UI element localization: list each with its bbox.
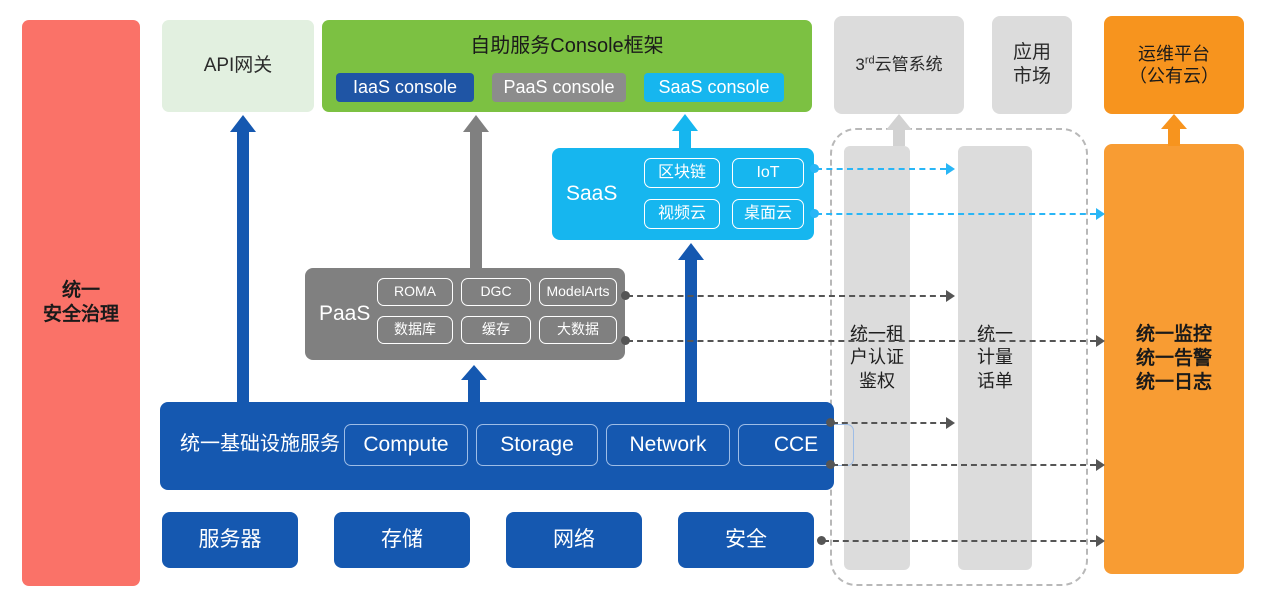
arrow-infra-to-paas	[461, 365, 487, 405]
arrowhead-saas-to-auth	[946, 163, 955, 175]
auth-line3: 鉴权	[850, 370, 904, 393]
paas-service-bigdata[interactable]: 大数据	[539, 316, 617, 344]
architecture-diagram: 统一 安全治理 API网关 自助服务Console框架 IaaS console…	[0, 0, 1265, 605]
infra-service-storage[interactable]: Storage	[476, 424, 598, 466]
ops-top-line2: （公有云）	[1129, 65, 1219, 88]
app-market-line2: 市场	[1013, 65, 1051, 89]
saas-service-blockchain[interactable]: 区块链	[644, 158, 720, 188]
arrowhead-hardware-to-ops	[1096, 535, 1105, 547]
infra-service-cce[interactable]: CCE	[738, 424, 854, 466]
security-governance-line2: 安全治理	[43, 303, 119, 327]
arrow-ops-column-to-ops-top	[1161, 114, 1187, 146]
arrow-paas-to-console	[463, 115, 489, 270]
saas-layer-box: SaaS 区块链 IoT 视频云 桌面云	[552, 148, 814, 240]
paas-service-cache[interactable]: 缓存	[461, 316, 531, 344]
arrow-saas-to-console	[672, 114, 698, 150]
dashed-hardware-to-ops	[823, 540, 1096, 542]
dashed-infra-to-ops	[832, 464, 1096, 466]
paas-service-dgc[interactable]: DGC	[461, 278, 531, 306]
third-party-cloud-management-box: 3rd云管系统	[834, 16, 964, 114]
saas-service-video-cloud[interactable]: 视频云	[644, 199, 720, 229]
paas-service-roma[interactable]: ROMA	[377, 278, 453, 306]
paas-layer-box: PaaS ROMA DGC ModelArts 数据库 缓存 大数据	[305, 268, 625, 360]
arrowhead-paas-to-ops	[1096, 335, 1105, 347]
dashed-paas-to-ops	[627, 340, 1096, 342]
ops-col-line2: 统一告警	[1136, 347, 1212, 371]
metering-line2: 计量	[977, 346, 1013, 369]
self-service-console-frame: 自助服务Console框架 IaaS console PaaS console …	[322, 20, 812, 112]
arrow-infra-to-api-gateway	[230, 115, 256, 404]
arrow-infra-to-saas	[678, 243, 704, 404]
security-governance-line1: 统一	[43, 279, 119, 303]
metering-line3: 话单	[977, 370, 1013, 393]
dashed-infra-to-auth	[832, 422, 946, 424]
auth-line2: 户认证	[850, 346, 904, 369]
ops-col-line1: 统一监控	[1136, 323, 1212, 347]
arrowhead-paas-to-auth	[946, 290, 955, 302]
arrow-shared-to-third-cloud	[886, 114, 912, 146]
api-gateway-box: API网关	[162, 20, 314, 112]
infra-service-compute[interactable]: Compute	[344, 424, 468, 466]
arrowhead-infra-to-ops	[1096, 459, 1105, 471]
saas-service-iot[interactable]: IoT	[732, 158, 804, 188]
paas-service-modelarts[interactable]: ModelArts	[539, 278, 617, 306]
hardware-security-box[interactable]: 安全	[678, 512, 814, 568]
saas-label: SaaS	[566, 181, 617, 207]
iaas-console-chip[interactable]: IaaS console	[336, 73, 474, 102]
auth-line1: 统一租	[850, 323, 904, 346]
third-cloud-label: 3rd云管系统	[855, 54, 942, 75]
hardware-storage-box[interactable]: 存储	[334, 512, 470, 568]
dashed-saas-to-ops	[816, 213, 1096, 215]
saas-console-chip[interactable]: SaaS console	[644, 73, 784, 102]
ops-top-line1: 运维平台	[1129, 43, 1219, 66]
dashed-saas-to-auth	[816, 168, 946, 170]
hardware-network-box[interactable]: 网络	[506, 512, 642, 568]
security-governance-column: 统一 安全治理	[22, 20, 140, 586]
api-gateway-label: API网关	[204, 54, 273, 78]
console-frame-title: 自助服务Console框架	[322, 34, 812, 59]
hardware-server-box[interactable]: 服务器	[162, 512, 298, 568]
infra-service-network[interactable]: Network	[606, 424, 730, 466]
ops-platform-public-cloud-box: 运维平台 （公有云）	[1104, 16, 1244, 114]
arrowhead-saas-to-ops	[1096, 208, 1105, 220]
paas-service-database[interactable]: 数据库	[377, 316, 453, 344]
paas-label: PaaS	[319, 301, 370, 327]
app-market-box: 应用 市场	[992, 16, 1072, 114]
unified-metering-billing-column: 统一 计量 话单	[958, 146, 1032, 570]
ops-monitoring-column: 统一监控 统一告警 统一日志	[1104, 144, 1244, 574]
saas-service-desktop-cloud[interactable]: 桌面云	[732, 199, 804, 229]
ops-col-line3: 统一日志	[1136, 371, 1212, 395]
unified-infrastructure-label: 统一基础设施服务	[180, 432, 340, 457]
arrowhead-infra-to-auth	[946, 417, 955, 429]
dashed-paas-to-auth	[627, 295, 946, 297]
metering-line1: 统一	[977, 323, 1013, 346]
unified-infrastructure-box: 统一基础设施服务 Compute Storage Network CCE	[160, 402, 834, 490]
app-market-line1: 应用	[1013, 41, 1051, 65]
paas-console-chip[interactable]: PaaS console	[492, 73, 626, 102]
unified-tenant-auth-column: 统一租 户认证 鉴权	[844, 146, 910, 570]
